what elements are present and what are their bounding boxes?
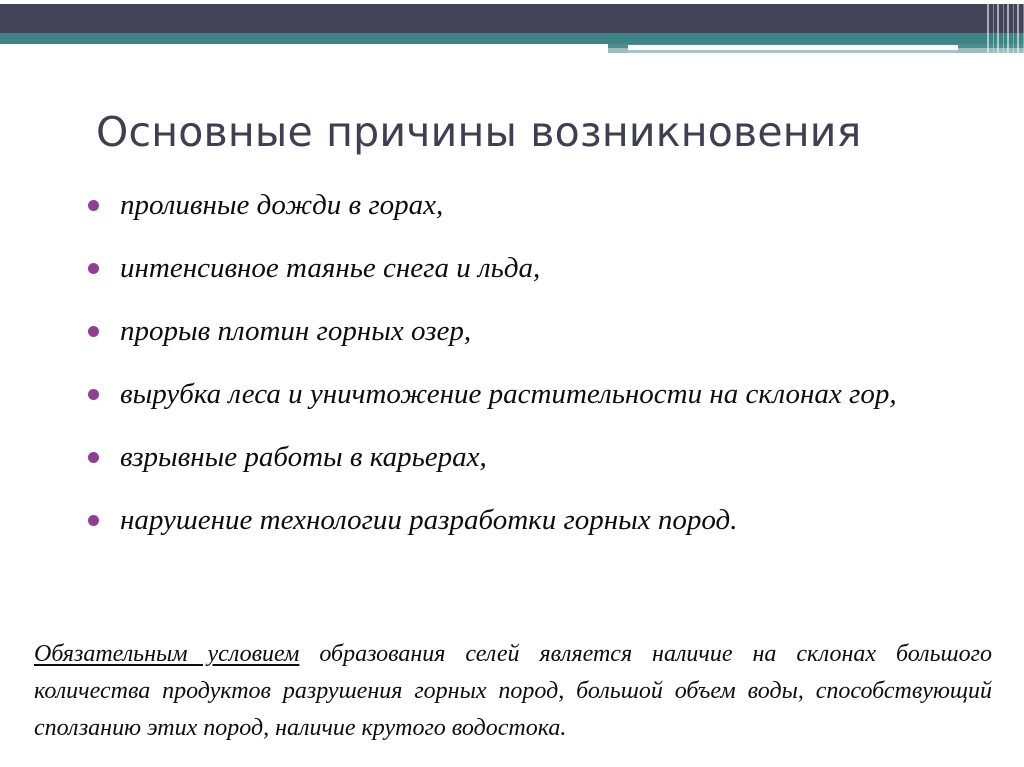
header-decoration-banner xyxy=(0,0,1024,72)
list-item-label: прорыв плотин горных озер, xyxy=(120,315,471,347)
bullet-dot-icon xyxy=(88,200,99,211)
list-item-label: нарушение технологии разработки горных п… xyxy=(120,504,737,536)
banner-notch-5 xyxy=(828,60,1024,72)
list-item: проливные дожди в горах, xyxy=(82,182,982,228)
list-item-label: проливные дожди в горах, xyxy=(120,189,443,221)
list-item: нарушение технологии разработки горных п… xyxy=(82,497,982,543)
bullet-dot-icon xyxy=(88,389,99,400)
list-item: вырубка леса и уничтожение растительност… xyxy=(82,371,982,417)
closing-note: Обязательным условием образования селей … xyxy=(34,636,992,747)
bullet-dot-icon xyxy=(88,515,99,526)
list-item-label: интенсивное таянье снега и льда, xyxy=(120,252,540,284)
list-item-label: взрывные работы в карьерах, xyxy=(120,441,487,473)
banner-notch-1 xyxy=(0,44,608,72)
banner-dark-band xyxy=(0,4,1024,33)
banner-notch-3 xyxy=(628,45,958,50)
bullet-dot-icon xyxy=(88,263,99,274)
list-item: интенсивное таянье снега и льда, xyxy=(82,245,982,291)
banner-teal-band xyxy=(0,33,1024,44)
causes-list: проливные дожди в горах, интенсивное тая… xyxy=(82,182,982,560)
list-item: взрывные работы в карьерах, xyxy=(82,434,982,480)
bullet-dot-icon xyxy=(88,452,99,463)
bullet-dot-icon xyxy=(88,326,99,337)
slide-title: Основные причины возникновения xyxy=(96,106,976,158)
list-item-label: вырубка леса и уничтожение растительност… xyxy=(120,378,897,410)
list-item: прорыв плотин горных озер, xyxy=(82,308,982,354)
closing-note-underlined: Обязательным условием xyxy=(34,641,299,667)
